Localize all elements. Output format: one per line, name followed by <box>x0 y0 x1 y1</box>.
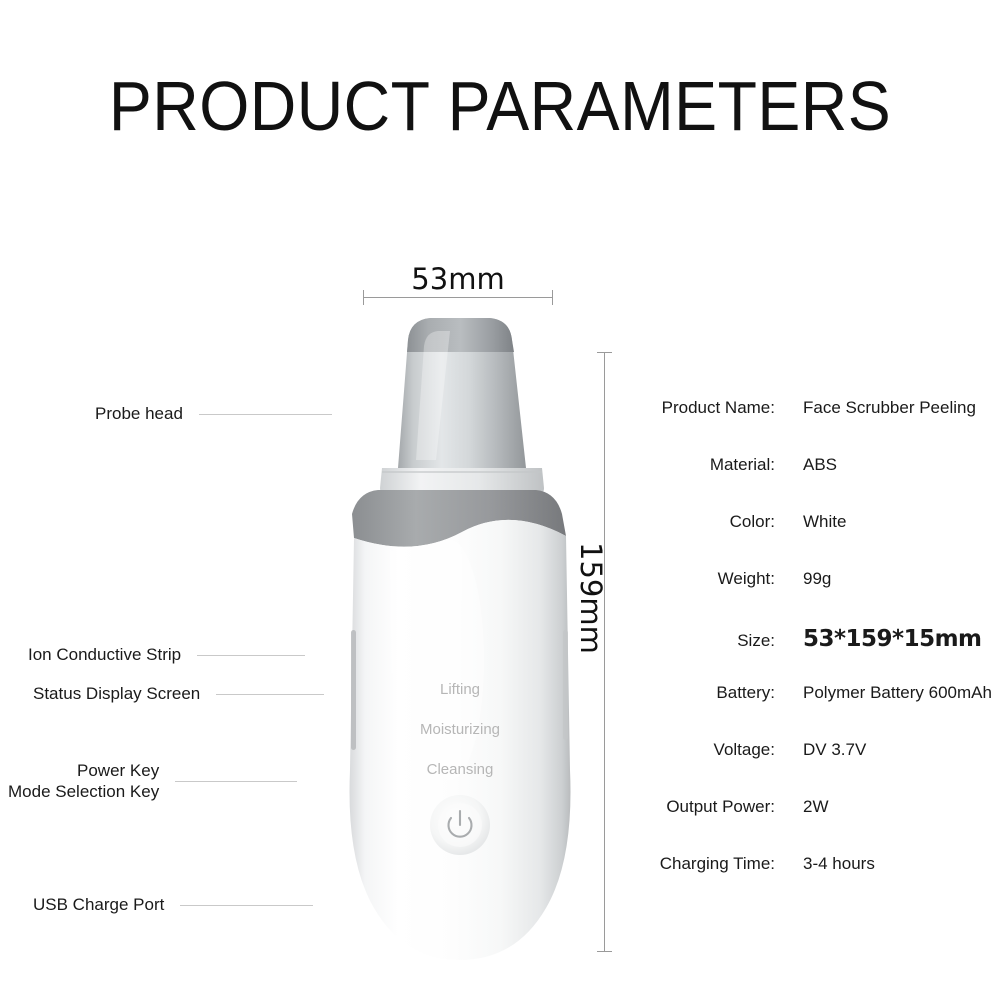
callout-probe-head-leader-line <box>199 414 332 415</box>
width-dimension-line <box>363 297 553 298</box>
spec-value-size: 53*159*15mm <box>775 626 982 652</box>
spec-row-charging-time: Charging Time: 3-4 hours <box>640 854 1000 911</box>
callout-power-key: Power Key Mode Selection Key <box>8 760 297 803</box>
callout-usb-charge-port: USB Charge Port <box>33 895 313 915</box>
callout-status-display-screen: Status Display Screen <box>33 684 324 704</box>
spec-row-output-power: Output Power: 2W <box>640 797 1000 854</box>
device-illustration: Lifting Moisturizing Cleansing <box>330 300 600 970</box>
callout-status-display-screen-label: Status Display Screen <box>33 684 200 704</box>
spec-label-battery: Battery: <box>640 683 775 703</box>
spec-value-material: ABS <box>775 455 837 475</box>
spec-value-color: White <box>775 512 846 532</box>
spec-row-material: Material: ABS <box>640 455 1000 512</box>
spec-value-voltage: DV 3.7V <box>775 740 866 760</box>
spec-row-weight: Weight: 99g <box>640 569 1000 626</box>
callout-status-display-screen-leader-line <box>216 694 324 695</box>
callout-ion-conductive-strip: Ion Conductive Strip <box>28 645 305 665</box>
spec-label-charging-time: Charging Time: <box>640 854 775 874</box>
spec-row-product-name: Product Name: Face Scrubber Peeling <box>640 398 1000 455</box>
mode-label-cleansing: Cleansing <box>427 761 494 778</box>
power-button <box>430 795 490 855</box>
callout-probe-head: Probe head <box>95 404 332 424</box>
callout-usb-charge-port-leader-line <box>180 905 313 906</box>
spec-label-size: Size: <box>640 631 775 651</box>
spec-row-voltage: Voltage: DV 3.7V <box>640 740 1000 797</box>
probe-head-icon <box>398 318 526 468</box>
spec-row-size: Size: 53*159*15mm <box>640 626 1000 683</box>
product-parameters-page: PRODUCT PARAMETERS 53mm 159mm Probe head… <box>0 0 1000 1000</box>
ion-conductive-strip <box>351 630 356 750</box>
spec-table: Product Name: Face Scrubber Peeling Mate… <box>640 398 1000 911</box>
spec-label-weight: Weight: <box>640 569 775 589</box>
right-side-accent <box>563 630 568 740</box>
width-dimension-label: 53mm <box>363 262 553 296</box>
spec-label-output-power: Output Power: <box>640 797 775 817</box>
width-dimension: 53mm <box>363 262 553 302</box>
spec-value-battery: Polymer Battery 600mAh <box>775 683 992 703</box>
spec-label-voltage: Voltage: <box>640 740 775 760</box>
spec-label-color: Color: <box>640 512 775 532</box>
callout-power-key-label-group: Power Key Mode Selection Key <box>8 760 159 803</box>
callout-usb-charge-port-label: USB Charge Port <box>33 895 164 915</box>
spec-value-weight: 99g <box>775 569 831 589</box>
callout-power-key-leader-line <box>175 781 297 782</box>
height-dimension: 159mm <box>596 352 636 952</box>
spec-label-product-name: Product Name: <box>640 398 775 418</box>
callout-power-key-label: Power Key <box>8 760 159 781</box>
mode-label-moisturizing: Moisturizing <box>420 721 500 738</box>
callout-ion-conductive-strip-leader-line <box>197 655 305 656</box>
callout-ion-conductive-strip-label: Ion Conductive Strip <box>28 645 181 665</box>
spec-label-material: Material: <box>640 455 775 475</box>
spec-value-output-power: 2W <box>775 797 829 817</box>
spec-value-product-name: Face Scrubber Peeling <box>775 398 976 418</box>
callout-probe-head-label: Probe head <box>95 404 183 424</box>
spec-value-charging-time: 3-4 hours <box>775 854 875 874</box>
page-title: PRODUCT PARAMETERS <box>40 66 960 146</box>
spec-row-battery: Battery: Polymer Battery 600mAh <box>640 683 1000 740</box>
mode-label-lifting: Lifting <box>440 681 480 698</box>
device-body <box>350 520 571 960</box>
callout-mode-selection-key-label: Mode Selection Key <box>8 781 159 802</box>
spec-row-color: Color: White <box>640 512 1000 569</box>
